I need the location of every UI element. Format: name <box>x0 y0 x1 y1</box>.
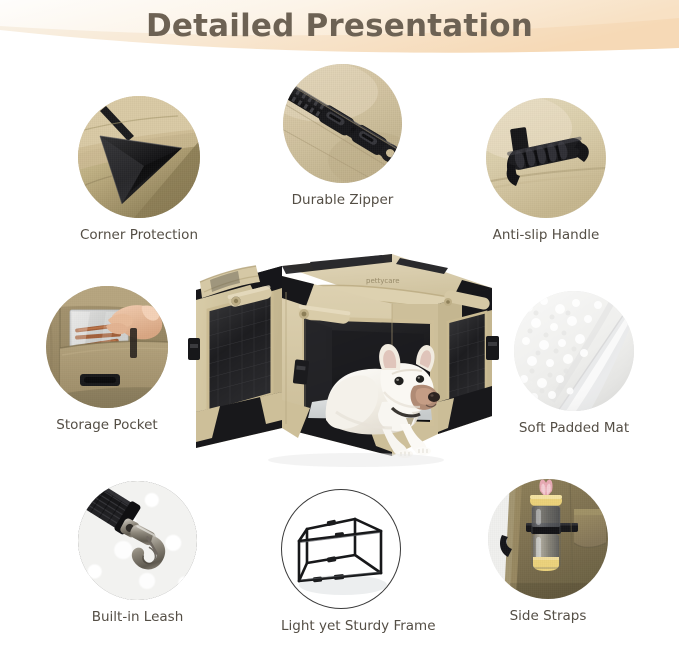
product-photo: pettycare <box>186 252 502 484</box>
feature-caption: Corner Protection <box>78 227 200 243</box>
canvas-texture <box>46 286 168 408</box>
canvas-texture <box>486 98 606 218</box>
feature-sturdy-frame[interactable]: Light yet Sturdy Frame <box>281 489 436 634</box>
feature-caption: Anti-slip Handle <box>486 227 606 243</box>
feature-caption: Light yet Sturdy Frame <box>281 618 436 634</box>
feature-storage-pocket[interactable]: Storage Pocket <box>46 286 168 433</box>
frame-photo <box>281 489 401 609</box>
canvas-texture <box>488 479 608 599</box>
canvas-texture <box>78 96 200 218</box>
pocket-photo <box>46 286 168 408</box>
leash-photo <box>78 481 197 600</box>
page-title: Detailed Presentation <box>0 8 679 44</box>
feature-caption: Side Straps <box>488 608 608 624</box>
mat-photo <box>514 291 634 411</box>
brand-logo: pettycare <box>366 277 400 285</box>
zipper-photo <box>283 64 402 183</box>
feature-caption: Durable Zipper <box>283 192 402 208</box>
infographic-page: Detailed Presentation <box>0 0 679 650</box>
crate-left-side <box>188 266 282 448</box>
handle-photo <box>486 98 606 218</box>
feature-side-straps[interactable]: Side Straps <box>488 479 608 624</box>
feature-caption: Storage Pocket <box>46 417 168 433</box>
canvas-texture <box>283 64 402 183</box>
feature-built-in-leash[interactable]: Built-in Leash <box>78 481 197 625</box>
header-banner: Detailed Presentation <box>0 0 679 72</box>
feature-corner-protection[interactable]: Corner Protection <box>78 96 200 243</box>
feature-anti-slip-handle[interactable]: Anti-slip Handle <box>486 98 606 243</box>
corner-patch-photo <box>78 96 200 218</box>
feature-caption: Built-in Leash <box>78 609 197 625</box>
feature-caption: Soft Padded Mat <box>514 420 634 436</box>
crate-right-side <box>438 288 499 434</box>
feature-soft-padded-mat[interactable]: Soft Padded Mat <box>514 291 634 436</box>
side-straps-photo <box>488 479 608 599</box>
feature-durable-zipper[interactable]: Durable Zipper <box>283 64 402 208</box>
